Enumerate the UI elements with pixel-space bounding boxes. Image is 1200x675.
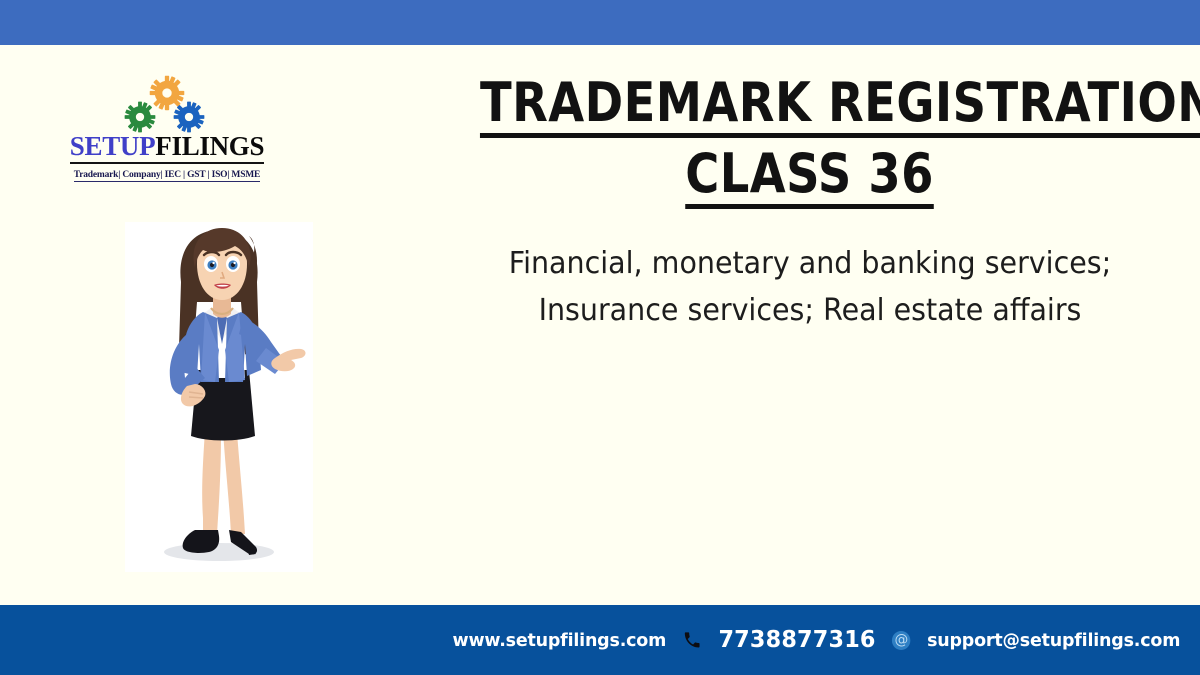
phone-icon xyxy=(682,630,701,650)
at-icon-glyph: @ xyxy=(892,631,910,650)
businesswoman-pointing-illustration xyxy=(125,222,313,572)
gear-left-icon xyxy=(124,101,156,138)
class-description-line-2: Insurance services; Real estate affairs xyxy=(443,287,1176,334)
footer-website[interactable]: www.setupfilings.com xyxy=(452,630,666,651)
gear-cluster xyxy=(119,75,215,131)
illustration-card xyxy=(125,222,313,572)
page-title-line-1: TRADEMARK REGISTRATION xyxy=(480,74,1200,138)
footer-phone-number[interactable]: 7738877316 xyxy=(718,627,875,653)
brand-logo: SETUPFILINGS Trademark| Company| IEC | G… xyxy=(62,75,272,182)
right-column: TRADEMARK REGISTRATION CLASS 36 Financia… xyxy=(420,45,1200,605)
slide-canvas: SETUPFILINGS Trademark| Company| IEC | G… xyxy=(0,0,1200,675)
top-accent-bar xyxy=(0,0,1200,45)
left-column: SETUPFILINGS Trademark| Company| IEC | G… xyxy=(0,45,420,605)
class-description: Financial, monetary and banking services… xyxy=(443,240,1176,335)
contact-footer: www.setupfilings.com 7738877316 @ suppor… xyxy=(0,605,1200,675)
logo-wordmark: SETUPFILINGS xyxy=(70,133,264,164)
gear-right-icon xyxy=(173,101,205,138)
at-icon: @ xyxy=(892,631,910,650)
logo-wordmark-filings: FILINGS xyxy=(155,131,264,161)
page-title-line-2: CLASS 36 xyxy=(686,145,935,209)
contact-footer-items: www.setupfilings.com 7738877316 @ suppor… xyxy=(452,627,1180,653)
logo-tagline: Trademark| Company| IEC | GST | ISO| MSM… xyxy=(74,170,260,182)
page-title: TRADEMARK REGISTRATION CLASS 36 xyxy=(420,74,1200,209)
class-description-line-1: Financial, monetary and banking services… xyxy=(443,240,1176,287)
footer-email[interactable]: support@setupfilings.com xyxy=(927,630,1180,651)
